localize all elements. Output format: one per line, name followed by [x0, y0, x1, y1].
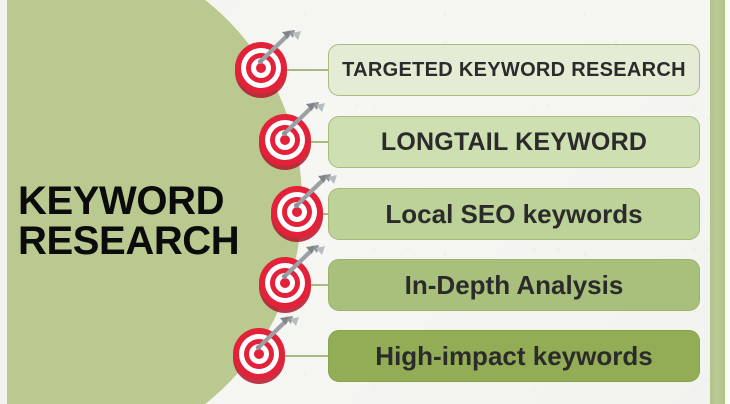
- page-title: KEYWORD RESEARCH: [18, 182, 286, 261]
- right-edge-margin: [725, 0, 730, 404]
- label-box[interactable]: TARGETED KEYWORD RESEARCH: [328, 44, 700, 96]
- target-bullseye-icon: [232, 327, 288, 383]
- arrow-icon: [248, 29, 304, 81]
- label-box-text: Local SEO keywords: [385, 199, 642, 230]
- label-box[interactable]: In-Depth Analysis: [328, 259, 700, 311]
- target-bullseye-icon: [258, 113, 314, 169]
- infographic-canvas: KEYWORD RESEARCH TARGETED KEYWORD RESEAR…: [0, 0, 730, 404]
- left-edge-margin: [0, 0, 7, 404]
- target-bullseye-icon: [234, 41, 290, 97]
- arrow-icon: [246, 315, 302, 367]
- arrow-icon: [272, 244, 328, 296]
- label-box[interactable]: LONGTAIL KEYWORD: [328, 116, 700, 168]
- label-box-text: In-Depth Analysis: [405, 270, 624, 301]
- target-bullseye-icon: [258, 256, 314, 312]
- label-box-text: LONGTAIL KEYWORD: [381, 128, 647, 157]
- label-box[interactable]: High-impact keywords: [328, 330, 700, 382]
- target-bullseye-icon: [270, 185, 326, 241]
- label-box-text: High-impact keywords: [375, 341, 652, 372]
- label-box[interactable]: Local SEO keywords: [328, 188, 700, 240]
- arrow-icon: [272, 101, 328, 153]
- label-box-text: TARGETED KEYWORD RESEARCH: [342, 59, 686, 82]
